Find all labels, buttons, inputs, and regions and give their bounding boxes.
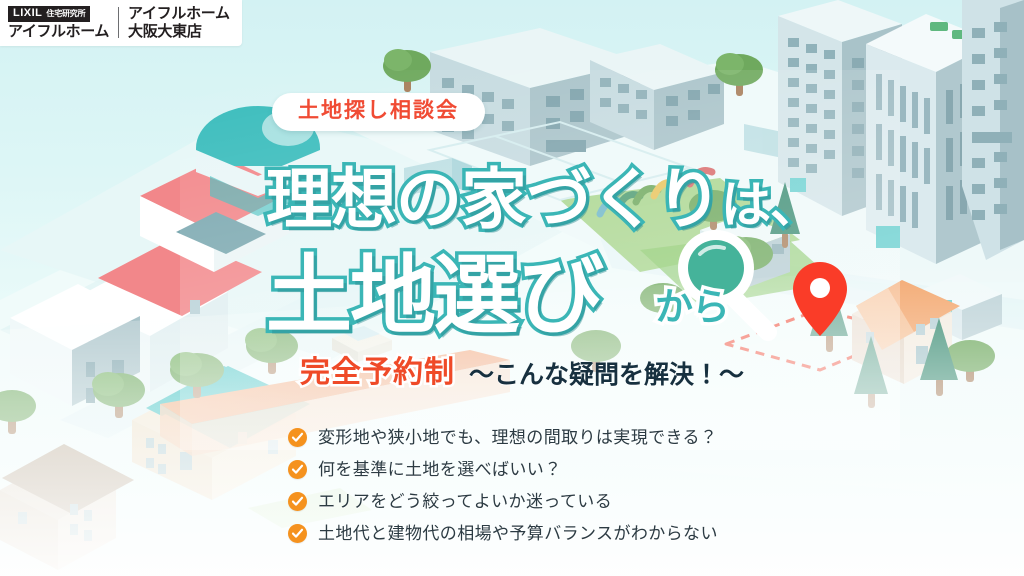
list-item: 何を基準に土地を選べばいい？ xyxy=(288,460,718,479)
question-text: 土地代と建物代の相場や予算バランスがわからない xyxy=(318,525,718,542)
question-lead-label: 〜こんな疑問を解決！〜 xyxy=(469,363,744,388)
company-logo[interactable]: LIXIL 住宅研究所 アイフルホーム アイフルホーム 大阪大東店 xyxy=(0,0,242,46)
list-item: 土地代と建物代の相場や予算バランスがわからない xyxy=(288,524,718,543)
logo-left-column: LIXIL 住宅研究所 アイフルホーム xyxy=(8,6,109,39)
aiful-home-wordmark: アイフルホーム xyxy=(8,24,109,39)
lixil-badge: LIXIL 住宅研究所 xyxy=(8,6,90,22)
reservation-label: 完全予約制 xyxy=(300,358,455,388)
logo-divider xyxy=(118,7,119,38)
store-brand-text: アイフルホーム xyxy=(128,6,230,21)
check-circle-icon xyxy=(288,460,307,479)
subheadline-row: 完全予約制 〜こんな疑問を解決！〜 xyxy=(300,358,744,388)
check-circle-icon xyxy=(288,492,307,511)
banner-canvas: LIXIL 住宅研究所 アイフルホーム アイフルホーム 大阪大東店 土地探し相談… xyxy=(0,0,1024,576)
headline-suffix-kara: から xyxy=(655,276,729,331)
question-list: 変形地や狭小地でも、理想の間取りは実現できる？ 何を基準に土地を選べばいい？ エ… xyxy=(288,428,718,543)
question-text: 何を基準に土地を選べばいい？ xyxy=(318,461,562,478)
copy-layer: 土地探し相談会 理想の家づくりは、 土地選び から 完全予約制 〜こんな疑問を解… xyxy=(0,0,1024,576)
lixil-sub-text: 住宅研究所 xyxy=(46,10,85,18)
check-circle-icon xyxy=(288,428,307,447)
check-circle-icon xyxy=(288,524,307,543)
headline-line-2: 土地選び xyxy=(266,225,602,350)
question-text: 変形地や狭小地でも、理想の間取りは実現できる？ xyxy=(318,429,717,446)
list-item: 変形地や狭小地でも、理想の間取りは実現できる？ xyxy=(288,428,718,447)
lixil-brand-text: LIXIL xyxy=(13,8,42,19)
question-text: エリアをどう絞ってよいか迷っている xyxy=(318,493,612,510)
logo-right-column: アイフルホーム 大阪大東店 xyxy=(128,6,230,39)
store-name-text: 大阪大東店 xyxy=(128,24,230,39)
headline-line-1-tail: は、 xyxy=(721,177,819,233)
event-badge-label: 土地探し相談会 xyxy=(298,99,459,122)
list-item: エリアをどう絞ってよいか迷っている xyxy=(288,492,718,511)
event-badge: 土地探し相談会 xyxy=(272,93,485,131)
